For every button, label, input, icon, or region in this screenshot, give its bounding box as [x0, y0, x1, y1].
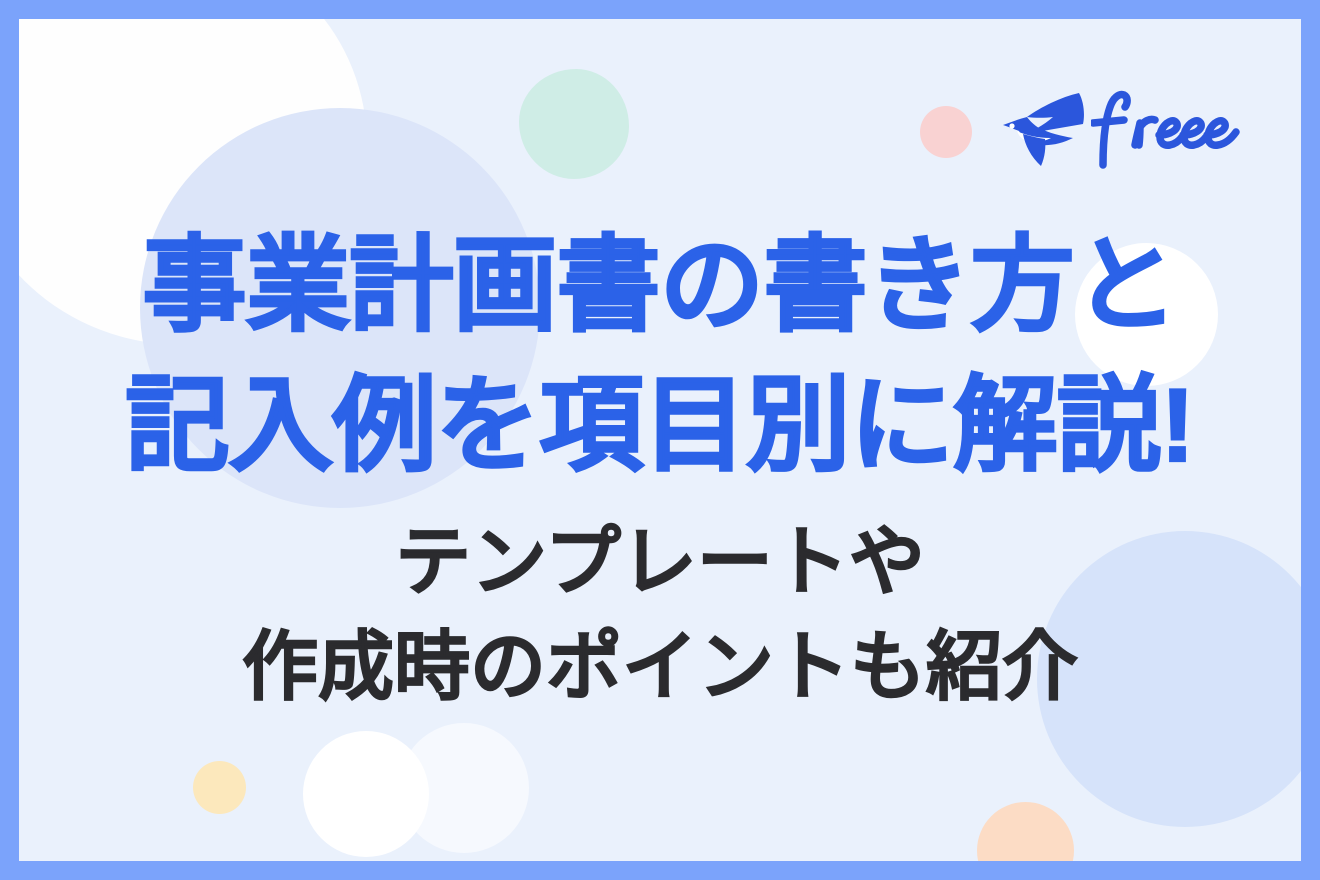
subheadline-line-2: 作成時のポイントも紹介 [19, 616, 1301, 719]
subheadline-line-1: テンプレートや [19, 511, 1301, 614]
freee-logo[interactable] [1001, 87, 1243, 171]
yellow-circle-decoration [193, 761, 246, 814]
swallow-bird-icon [1001, 91, 1085, 167]
headline-line-1: 事業計画書の書き方と [19, 219, 1301, 353]
freee-wordmark-icon [1091, 87, 1243, 171]
peach-circle-decoration [977, 802, 1074, 861]
white-circle-bottom-left-decoration [303, 731, 429, 857]
hero-banner: 事業計画書の書き方と 記入例を項目別に解説! テンプレートや 作成時のポイントも… [0, 0, 1320, 880]
white-wedge-bottom-center-decoration [399, 723, 529, 853]
headline-line-2: 記入例を項目別に解説! [19, 359, 1301, 493]
hero-panel: 事業計画書の書き方と 記入例を項目別に解説! テンプレートや 作成時のポイントも… [19, 19, 1301, 861]
